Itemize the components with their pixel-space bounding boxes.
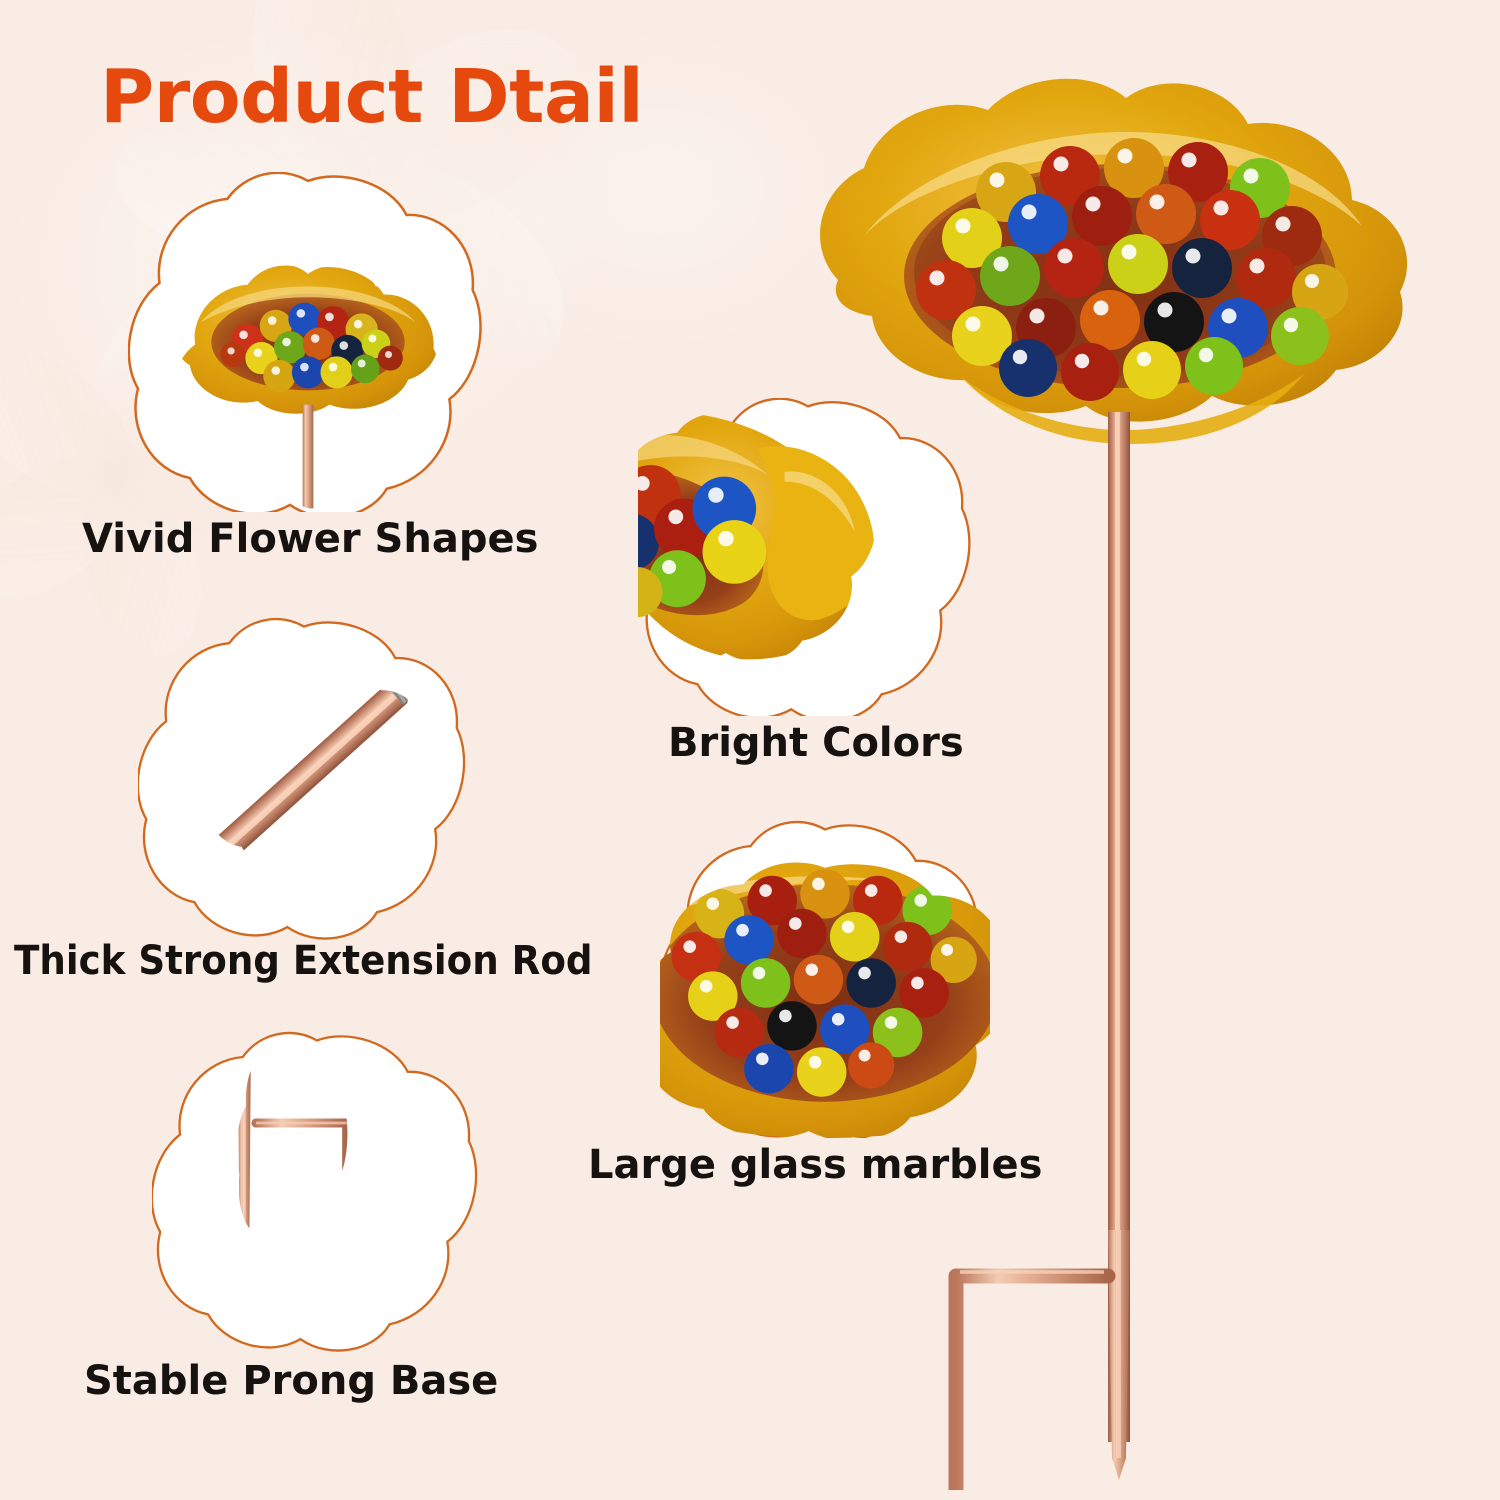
feature-card-stable-prong-base[interactable]	[152, 1024, 482, 1354]
feature-card-thick-strong-extension-rod[interactable]	[138, 608, 470, 944]
feature-caption-stable-prong-base: Stable Prong Base	[84, 1358, 498, 1404]
petal-dish	[820, 79, 1407, 444]
infographic-canvas: Product Dtail	[0, 0, 1500, 1500]
flower-frame	[128, 172, 488, 512]
feature-caption-vivid-flower-shapes: Vivid Flower Shapes	[82, 516, 538, 562]
feature-caption-thick-strong-extension-rod: Thick Strong Extension Rod	[14, 938, 593, 984]
flower-frame	[138, 608, 470, 944]
flower-frame	[152, 1024, 482, 1354]
feature-card-vivid-flower-shapes[interactable]	[128, 172, 488, 512]
hero-product-flower-bird-bath-stake	[760, 40, 1480, 1490]
prong-stake	[956, 1230, 1130, 1490]
page-title: Product Dtail	[100, 54, 643, 140]
